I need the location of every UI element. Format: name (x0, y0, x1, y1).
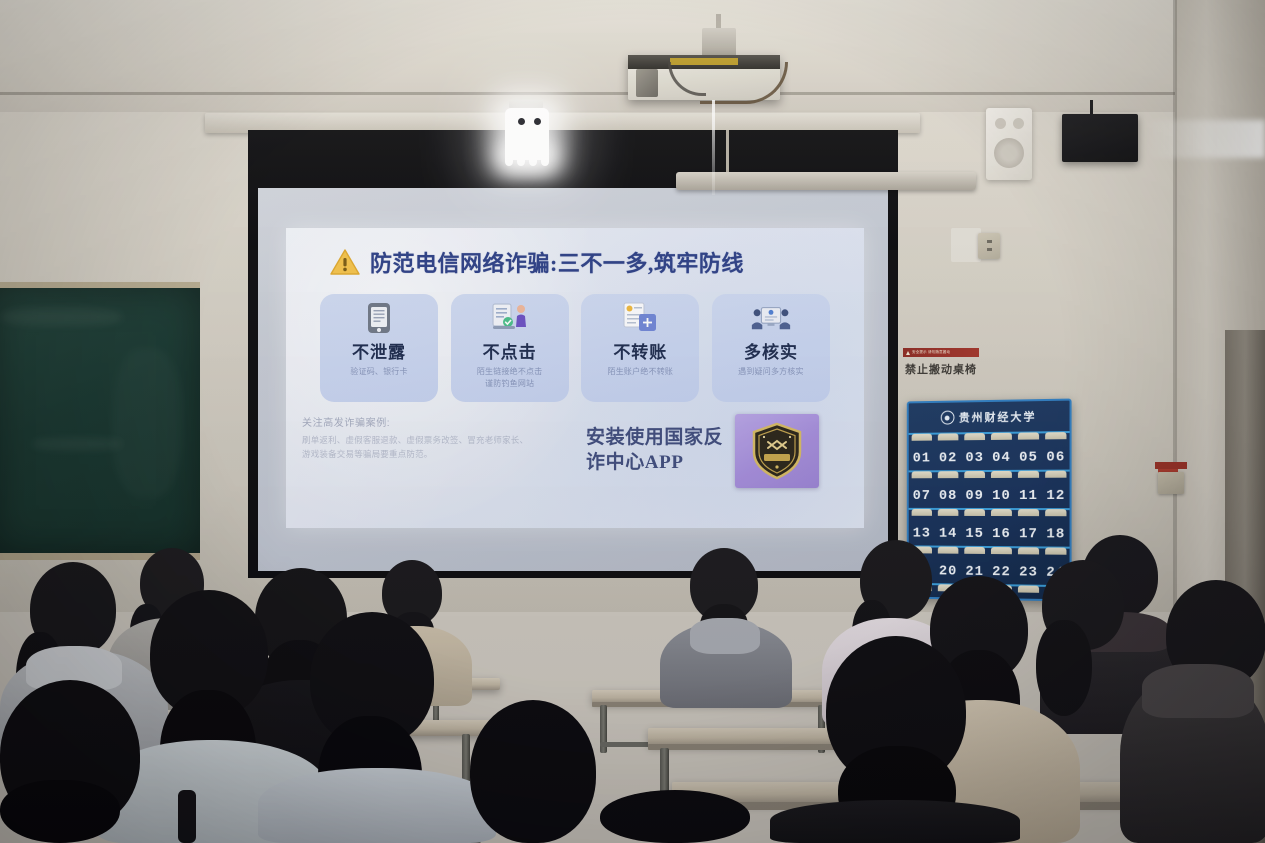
shield-badge-icon (751, 422, 803, 480)
screen-roller-bar (676, 172, 976, 190)
phone-pocket[interactable]: 17 (1015, 508, 1042, 546)
university-name: 贵州财经大学 (959, 408, 1037, 425)
pocket-number: 17 (1019, 526, 1038, 542)
backpack-strap (178, 790, 196, 843)
fraud-cases-block: 关注高发诈骗案例: 刷单返利、虚假客服退款、虚假票务改签、冒充老师家长、 游戏装… (302, 414, 572, 462)
phone-pocket-chart: 贵州财经大学 010203040506070809101112131415161… (907, 399, 1072, 602)
phone-pocket[interactable]: 14 (935, 508, 961, 546)
lamp-cap (509, 100, 543, 108)
phone-pocket[interactable]: 10 (988, 470, 1015, 508)
pocket-number: 20 (939, 563, 957, 579)
anti-fraud-badge (735, 414, 819, 488)
invoice-card-icon (620, 301, 660, 335)
tip-card-title: 不转账 (613, 338, 667, 363)
screen-surface: 防范电信网络诈骗:三不一多,筑牢防线 (258, 188, 888, 571)
outlet-backplate (951, 228, 981, 262)
pocket-number: 16 (992, 526, 1011, 542)
warning-triangle-icon (330, 249, 360, 276)
tip-card-sub: 陌生链接绝不点击 谨防钓鱼网站 (477, 366, 543, 389)
phone-pocket[interactable]: 04 (988, 432, 1015, 470)
fur-collar (1142, 664, 1254, 718)
pocket-number: 07 (913, 488, 931, 504)
pocket-chart-header: 贵州财经大学 (909, 401, 1070, 433)
phone-pocket[interactable]: 07 (909, 470, 935, 508)
smartphone-icon (359, 301, 399, 335)
lamp-dot-left (518, 118, 525, 125)
tip-card-sub: 遇到疑问多方核实 (738, 366, 804, 378)
pocket-number: 13 (913, 526, 931, 542)
phone-pocket[interactable]: 16 (988, 508, 1015, 546)
wall-alarm-box[interactable] (1158, 472, 1184, 494)
projector-lens (636, 69, 658, 97)
pocket-number: 11 (1019, 488, 1038, 504)
phone-pocket[interactable]: 09 (961, 470, 988, 508)
document-person-icon (490, 301, 530, 335)
fraud-cases-body: 刷单返利、虚假客服退款、虚假票务改签、冒充老师家长、 游戏装备交易等骗局要重点防… (302, 433, 572, 462)
phone-pocket[interactable]: 23 (1015, 546, 1042, 585)
slide-title: 防范电信网络诈骗:三不一多,筑牢防线 (370, 246, 744, 278)
pocket-number: 03 (965, 450, 984, 466)
phone-pocket[interactable]: 15 (961, 508, 988, 546)
pocket-number: 15 (965, 526, 984, 542)
tip-card-no-transfer: 不转账 陌生账户绝不转账 (581, 294, 699, 402)
phone-pocket[interactable]: 11 (1015, 470, 1042, 508)
green-chalkboard (0, 282, 200, 560)
wall-monitor-panel (1062, 114, 1138, 162)
tip-card-no-click: 不点击 陌生链接绝不点击 谨防钓鱼网站 (451, 294, 569, 402)
pocket-number: 12 (1046, 488, 1065, 504)
alarm-box-label (1155, 462, 1187, 469)
pocket-number: 23 (1019, 564, 1038, 580)
projection-screen: 防范电信网络诈骗:三不一多,筑牢防线 (248, 130, 898, 578)
app-cta-text: 安装使用国家反 诈中心APP (586, 426, 723, 475)
tip-card-title: 不泄露 (352, 338, 406, 363)
presentation-slide: 防范电信网络诈骗:三不一多,筑牢防线 (286, 228, 864, 528)
screen-roller-stem (726, 130, 729, 175)
speaker-tweeter-right (1013, 118, 1024, 129)
pocket-number: 10 (992, 488, 1011, 504)
sign-banner-text: 安全提示 请勿随意搬动 (912, 350, 950, 355)
pocket-number: 08 (939, 488, 957, 504)
tip-card-title: 不点击 (483, 338, 537, 363)
pocket-number: 01 (913, 451, 931, 467)
ceiling-wire (712, 100, 715, 195)
classroom-scene: 防范电信网络诈骗:三不一多,筑牢防线 (0, 0, 1265, 843)
app-cta-block: 安装使用国家反 诈中心APP (586, 414, 819, 488)
tip-card-verify: 多核实 遇到疑问多方核实 (712, 294, 830, 402)
sign-main-text: 禁止搬动桌椅 (903, 361, 979, 377)
pocket-number: 02 (939, 450, 957, 466)
phone-pocket[interactable]: 01 (909, 433, 935, 471)
phone-pocket[interactable]: 05 (1015, 431, 1042, 470)
phone-pocket[interactable]: 03 (961, 432, 988, 470)
speaker-woofer (994, 138, 1024, 168)
phone-pocket[interactable]: 20 (935, 546, 961, 584)
phone-pocket[interactable]: 12 (1042, 470, 1069, 509)
phone-pocket[interactable]: 06 (1042, 431, 1069, 470)
wall-speaker (986, 108, 1032, 180)
tip-card-no-disclose: 不泄露 验证码、银行卡 (320, 294, 438, 402)
wall-power-outlet[interactable] (978, 233, 1000, 259)
pocket-number: 04 (992, 450, 1011, 466)
app-cta-line1: 安装使用国家反 (586, 426, 723, 451)
pocket-grid: 0102030405060708091011121314151617181920… (909, 431, 1070, 601)
app-cta-line2: 诈中心APP (586, 451, 723, 476)
phone-pocket[interactable]: 13 (909, 508, 935, 546)
monitor-people-icon (751, 301, 791, 335)
projector-mount (702, 28, 736, 58)
no-move-furniture-sign: 安全提示 请勿随意搬动 禁止搬动桌椅 (903, 348, 979, 382)
tip-card-list: 不泄露 验证码、银行卡 (320, 294, 830, 402)
pocket-number: 18 (1046, 526, 1065, 542)
right-ceiling-light (1145, 120, 1265, 158)
sign-banner: 安全提示 请勿随意搬动 (903, 348, 979, 357)
warning-triangle-icon (906, 351, 910, 355)
fraud-cases-heading: 关注高发诈骗案例: (302, 414, 572, 429)
slide-title-row: 防范电信网络诈骗:三不一多,筑牢防线 (330, 246, 744, 278)
phone-pocket[interactable]: 08 (935, 470, 961, 508)
phone-pocket[interactable]: 18 (1042, 508, 1069, 547)
pocket-number: 14 (939, 526, 957, 542)
lamp-dot-right (534, 118, 541, 125)
tip-card-title: 多核实 (744, 338, 798, 363)
phone-pocket[interactable]: 02 (935, 432, 961, 470)
university-seal-icon (940, 411, 954, 425)
pocket-number: 06 (1046, 449, 1065, 465)
pocket-number: 05 (1019, 450, 1038, 466)
speaker-tweeter-left (995, 118, 1006, 129)
tip-card-sub: 陌生账户绝不转账 (608, 366, 674, 378)
pocket-number: 09 (965, 488, 984, 504)
lamp-bottom-teeth (505, 152, 549, 166)
tip-card-sub: 验证码、银行卡 (350, 366, 407, 378)
